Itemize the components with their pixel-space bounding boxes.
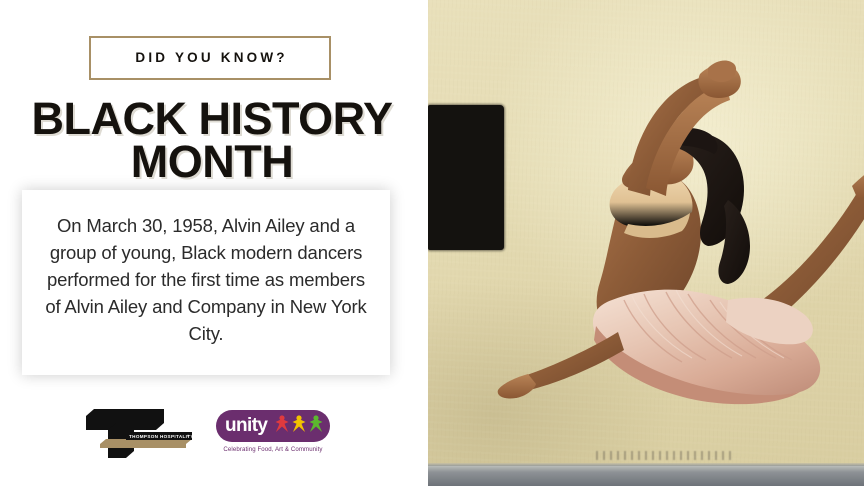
- thompson-hospitality-mark-icon: THOMPSON HOSPITALITY ®: [82, 406, 194, 462]
- thompson-wordmark-text: THOMPSON HOSPITALITY: [129, 434, 194, 439]
- star-person-green-icon: [308, 414, 324, 434]
- thompson-hospitality-logo: THOMPSON HOSPITALITY ®: [82, 406, 194, 462]
- fact-text: On March 30, 1958, Alvin Ailey and a gro…: [38, 212, 374, 347]
- slide-root: DID YOU KNOW? BLACK HISTORY MONTH On Mar…: [0, 0, 864, 486]
- left-content-panel: DID YOU KNOW? BLACK HISTORY MONTH On Mar…: [0, 0, 428, 486]
- headline-line-2: MONTH: [22, 141, 402, 184]
- unity-tagline: Celebrating Food, Art & Community: [216, 446, 330, 453]
- badge-label: DID YOU KNOW?: [132, 51, 288, 65]
- did-you-know-badge: DID YOU KNOW?: [89, 36, 331, 80]
- headline-line-1: BLACK HISTORY: [22, 98, 402, 141]
- unity-stars-icon: [274, 414, 324, 434]
- dancer-figure: [428, 0, 864, 486]
- unity-wordmark: unity: [225, 416, 267, 435]
- page-title: BLACK HISTORY MONTH: [22, 98, 402, 184]
- dancer-photo: [428, 0, 864, 486]
- star-person-yellow-icon: [291, 414, 307, 434]
- fact-card: On March 30, 1958, Alvin Ailey and a gro…: [22, 190, 390, 375]
- star-person-red-icon: [274, 414, 290, 434]
- unity-logo: unity: [216, 410, 330, 462]
- logo-row: THOMPSON HOSPITALITY ® unity: [0, 398, 428, 470]
- unity-pill: unity: [216, 410, 330, 442]
